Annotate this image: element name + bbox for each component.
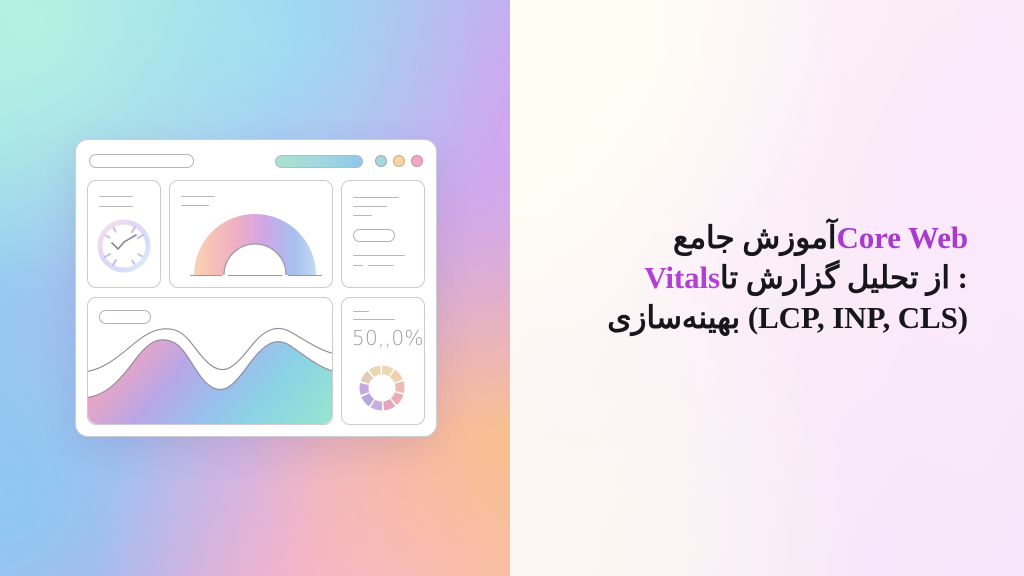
poster-canvas: Core Webآموزش جامع : از تحلیل گزارش تاVi… bbox=[0, 0, 1024, 576]
area-wave-chart bbox=[88, 298, 332, 424]
headline-plain-2: : از تحلیل گزارش تا bbox=[720, 260, 968, 295]
headline-accent-core-web: Core Web bbox=[836, 220, 968, 255]
headline-line-2: : از تحلیل گزارش تاVitals bbox=[564, 258, 968, 298]
headline-plain-3: بهینه‌سازی bbox=[607, 300, 740, 335]
dashboard-row-top bbox=[87, 180, 425, 288]
skeleton-line bbox=[181, 205, 209, 206]
clock-icon bbox=[95, 217, 153, 275]
gauge-chart bbox=[180, 213, 330, 285]
skeleton-line bbox=[353, 206, 387, 207]
skeleton-line bbox=[99, 206, 133, 207]
minimize-dot-icon[interactable] bbox=[393, 155, 405, 167]
headline-latin-metrics: (LCP, INP, CLS) bbox=[748, 300, 968, 335]
search-input[interactable] bbox=[89, 154, 194, 168]
skeleton-line bbox=[353, 215, 372, 216]
right-illustration-panel: 50,,0% bbox=[0, 0, 510, 576]
headline-block: Core Webآموزش جامع : از تحلیل گزارش تاVi… bbox=[564, 218, 968, 338]
skeleton-line bbox=[368, 265, 394, 266]
url-bar[interactable] bbox=[275, 155, 363, 168]
headline-line-3: (LCP, INP, CLS) بهینه‌سازی bbox=[564, 298, 968, 338]
headline-line-1: Core Webآموزش جامع bbox=[564, 218, 968, 258]
skeleton-line bbox=[353, 255, 405, 256]
skeleton-line bbox=[353, 265, 363, 266]
card-action-button[interactable] bbox=[353, 229, 395, 242]
skeleton-line bbox=[181, 196, 215, 197]
maximize-dot-icon[interactable] bbox=[375, 155, 387, 167]
percent-value: 50,,0% bbox=[352, 326, 424, 350]
headline-plain-1: آموزش جامع bbox=[673, 220, 837, 255]
percent-donut-card[interactable]: 50,,0% bbox=[341, 297, 425, 425]
skeleton-line bbox=[353, 197, 399, 198]
gauge-card[interactable] bbox=[169, 180, 333, 288]
skeleton-line bbox=[99, 196, 133, 197]
browser-titlebar bbox=[87, 151, 425, 171]
skeleton-line bbox=[353, 319, 395, 320]
browser-window-mock: 50,,0% bbox=[75, 139, 437, 437]
left-text-panel: Core Webآموزش جامع : از تحلیل گزارش تاVi… bbox=[510, 0, 1024, 576]
headline-accent-vitals: Vitals bbox=[644, 260, 720, 295]
area-chart-card[interactable] bbox=[87, 297, 333, 425]
dashboard-row-bottom: 50,,0% bbox=[87, 297, 425, 425]
close-dot-icon[interactable] bbox=[411, 155, 423, 167]
skeleton-line bbox=[353, 311, 369, 312]
stats-list-card[interactable] bbox=[341, 180, 425, 288]
donut-chart bbox=[354, 360, 410, 416]
clock-card[interactable] bbox=[87, 180, 161, 288]
